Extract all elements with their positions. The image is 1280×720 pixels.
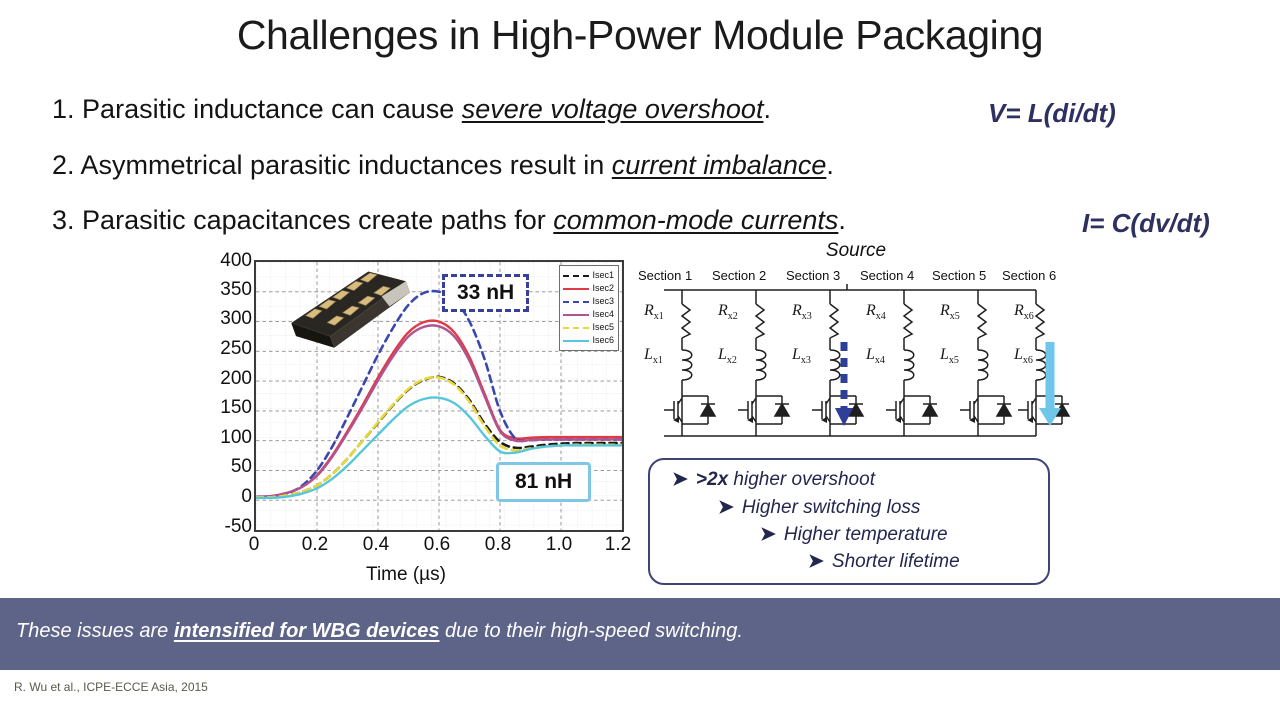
circuit-resistor-5 bbox=[978, 304, 986, 338]
formula-current: I= C(dv/dt) bbox=[1082, 208, 1210, 239]
chart-y-tick-0: 0 bbox=[200, 486, 252, 508]
resistor-label-3: Rx3 bbox=[792, 302, 812, 322]
legend-item-isec4: Isec4 bbox=[563, 308, 614, 321]
collector-current-chart: Collector Current (A) Time (µs) 400 350 … bbox=[186, 252, 626, 592]
resistor-label-5: Rx5 bbox=[940, 302, 960, 322]
consequence-text-2: Higher switching loss bbox=[742, 497, 920, 518]
legend-item-isec1: Isec1 bbox=[563, 269, 614, 282]
chart-x-tick-1.2: 1.2 bbox=[596, 534, 640, 556]
bullet-text-post-2: . bbox=[826, 150, 834, 180]
inductor-label-4: Lx4 bbox=[866, 346, 885, 366]
banner-text: These issues are intensified for WBG dev… bbox=[16, 620, 743, 643]
section-label-4: Section 4 bbox=[860, 268, 914, 283]
consequence-item-1: ➤>2x higher overshoot bbox=[672, 468, 875, 491]
legend-swatch-isec5 bbox=[563, 323, 589, 333]
consequence-text-4: Shorter lifetime bbox=[832, 551, 960, 572]
bullet-emphasis-1: severe voltage overshoot bbox=[462, 94, 764, 124]
bullet-number-2: 2. bbox=[52, 150, 75, 180]
diode-triangle-2 bbox=[775, 404, 789, 416]
resistor-label-1: Rx1 bbox=[644, 302, 664, 322]
consequences-callout-box: ➤>2x higher overshoot ➤Higher switching … bbox=[648, 458, 1050, 585]
chart-y-tick-200: 200 bbox=[200, 368, 252, 390]
circuit-inductor-5 bbox=[978, 350, 988, 380]
bottom-banner: These issues are intensified for WBG dev… bbox=[0, 598, 1280, 670]
circuit-resistor-6 bbox=[1036, 304, 1044, 338]
chart-y-tick-400: 400 bbox=[200, 250, 252, 272]
legend-item-isec2: Isec2 bbox=[563, 282, 614, 295]
diode-triangle-4 bbox=[923, 404, 937, 416]
bullet-text-pre-2: Asymmetrical parasitic inductances resul… bbox=[81, 150, 612, 180]
resistor-label-6: Rx6 bbox=[1014, 302, 1034, 322]
chart-x-axis-label: Time (µs) bbox=[186, 564, 626, 586]
parasitic-circuit-diagram: Source Section 1 Section 2 Section 3 Sec… bbox=[636, 240, 1076, 455]
resistor-label-4: Rx4 bbox=[866, 302, 886, 322]
consequence-item-2: ➤Higher switching loss bbox=[718, 496, 920, 519]
bullet-item-1: 1. Parasitic inductance can cause severe… bbox=[52, 94, 771, 125]
section-label-3: Section 3 bbox=[786, 268, 840, 283]
circuit-inductor-3 bbox=[830, 350, 840, 380]
bullet-emphasis-3: common-mode currents bbox=[553, 205, 838, 235]
chart-x-tick-0.8: 0.8 bbox=[476, 534, 520, 556]
resistor-label-2: Rx2 bbox=[718, 302, 738, 322]
consequence-item-3: ➤Higher temperature bbox=[760, 523, 948, 546]
chart-y-tick-50: 50 bbox=[200, 456, 252, 478]
citation-text: R. Wu et al., ICPE-ECCE Asia, 2015 bbox=[14, 680, 208, 694]
chart-y-tick-100: 100 bbox=[200, 427, 252, 449]
consequence-arrow-icon-2: ➤ bbox=[718, 497, 734, 518]
legend-label-isec3: Isec3 bbox=[592, 296, 614, 307]
chart-x-tick-0.6: 0.6 bbox=[415, 534, 459, 556]
bullet-number-1: 1. bbox=[52, 94, 75, 124]
banner-emphasis: intensified for WBG devices bbox=[174, 620, 440, 642]
diode-triangle-5 bbox=[997, 404, 1011, 416]
circuit-schematic-svg bbox=[636, 284, 1076, 454]
inductor-label-1: Lx1 bbox=[644, 346, 663, 366]
chart-plot-area: 33 nH 81 nH Isec1 Isec2 Isec3 Isec4 I bbox=[254, 260, 624, 532]
legend-swatch-isec4 bbox=[563, 310, 589, 320]
chart-y-tick-150: 150 bbox=[200, 397, 252, 419]
inductor-label-6: Lx6 bbox=[1014, 346, 1033, 366]
consequence-arrow-icon-4: ➤ bbox=[808, 551, 824, 572]
annotation-33nh: 33 nH bbox=[442, 274, 529, 312]
bullet-number-3: 3. bbox=[52, 205, 75, 235]
bullet-item-2: 2. Asymmetrical parasitic inductances re… bbox=[52, 150, 834, 181]
circuit-resistor-3 bbox=[830, 304, 838, 338]
inductor-label-2: Lx2 bbox=[718, 346, 737, 366]
chart-legend: Isec1 Isec2 Isec3 Isec4 Isec5 Isec6 bbox=[559, 265, 619, 351]
consequence-text-3: Higher temperature bbox=[784, 524, 948, 545]
legend-item-isec3: Isec3 bbox=[563, 295, 614, 308]
chart-x-tick-1.0: 1.0 bbox=[537, 534, 581, 556]
chart-y-tick-350: 350 bbox=[200, 279, 252, 301]
consequence-arrow-icon-3: ➤ bbox=[760, 524, 776, 545]
chart-x-tick-0.2: 0.2 bbox=[293, 534, 337, 556]
bullet-emphasis-2: current imbalance bbox=[612, 150, 827, 180]
legend-label-isec1: Isec1 bbox=[592, 270, 614, 281]
circuit-inductor-2 bbox=[756, 350, 766, 380]
circuit-inductor-4 bbox=[904, 350, 914, 380]
legend-swatch-isec2 bbox=[563, 284, 589, 294]
consequence-strong-1: >2x bbox=[696, 469, 728, 490]
legend-label-isec6: Isec6 bbox=[592, 335, 614, 346]
consequence-item-4: ➤Shorter lifetime bbox=[808, 550, 960, 573]
legend-label-isec5: Isec5 bbox=[592, 322, 614, 333]
legend-swatch-isec1 bbox=[563, 271, 589, 281]
chart-x-tick-0: 0 bbox=[232, 534, 276, 556]
bullet-text-pre-1: Parasitic inductance can cause bbox=[82, 94, 462, 124]
circuit-inductor-6 bbox=[1036, 350, 1046, 380]
legend-swatch-isec6 bbox=[563, 336, 589, 346]
legend-item-isec6: Isec6 bbox=[563, 334, 614, 347]
section-label-6: Section 6 bbox=[1002, 268, 1056, 283]
annotation-81nh: 81 nH bbox=[496, 462, 591, 502]
circuit-inductor-1 bbox=[682, 350, 692, 380]
banner-text-post: due to their high-speed switching. bbox=[439, 620, 743, 642]
page-title: Challenges in High-Power Module Packagin… bbox=[0, 12, 1280, 59]
circuit-resistor-2 bbox=[756, 304, 764, 338]
legend-item-isec5: Isec5 bbox=[563, 321, 614, 334]
chart-y-tick-250: 250 bbox=[200, 338, 252, 360]
chart-x-tick-0.4: 0.4 bbox=[354, 534, 398, 556]
formula-voltage: V= L(di/dt) bbox=[988, 98, 1116, 129]
diode-triangle-1 bbox=[701, 404, 715, 416]
banner-text-pre: These issues are bbox=[16, 620, 174, 642]
circuit-source-label: Source bbox=[636, 240, 1076, 262]
inductor-label-5: Lx5 bbox=[940, 346, 959, 366]
bullet-text-post-1: . bbox=[763, 94, 771, 124]
bullet-text-post-3: . bbox=[838, 205, 846, 235]
consequence-text-1: higher overshoot bbox=[728, 469, 875, 490]
circuit-resistor-1 bbox=[682, 304, 690, 338]
bullet-item-3: 3. Parasitic capacitances create paths f… bbox=[52, 205, 846, 236]
section-label-1: Section 1 bbox=[638, 268, 692, 283]
section-label-2: Section 2 bbox=[712, 268, 766, 283]
legend-label-isec2: Isec2 bbox=[592, 283, 614, 294]
chart-y-tick-300: 300 bbox=[200, 308, 252, 330]
inductor-label-3: Lx3 bbox=[792, 346, 811, 366]
consequence-arrow-icon-1: ➤ bbox=[672, 469, 688, 490]
legend-swatch-isec3 bbox=[563, 297, 589, 307]
section-label-5: Section 5 bbox=[932, 268, 986, 283]
bullet-text-pre-3: Parasitic capacitances create paths for bbox=[82, 205, 553, 235]
legend-label-isec4: Isec4 bbox=[592, 309, 614, 320]
circuit-resistor-4 bbox=[904, 304, 912, 338]
